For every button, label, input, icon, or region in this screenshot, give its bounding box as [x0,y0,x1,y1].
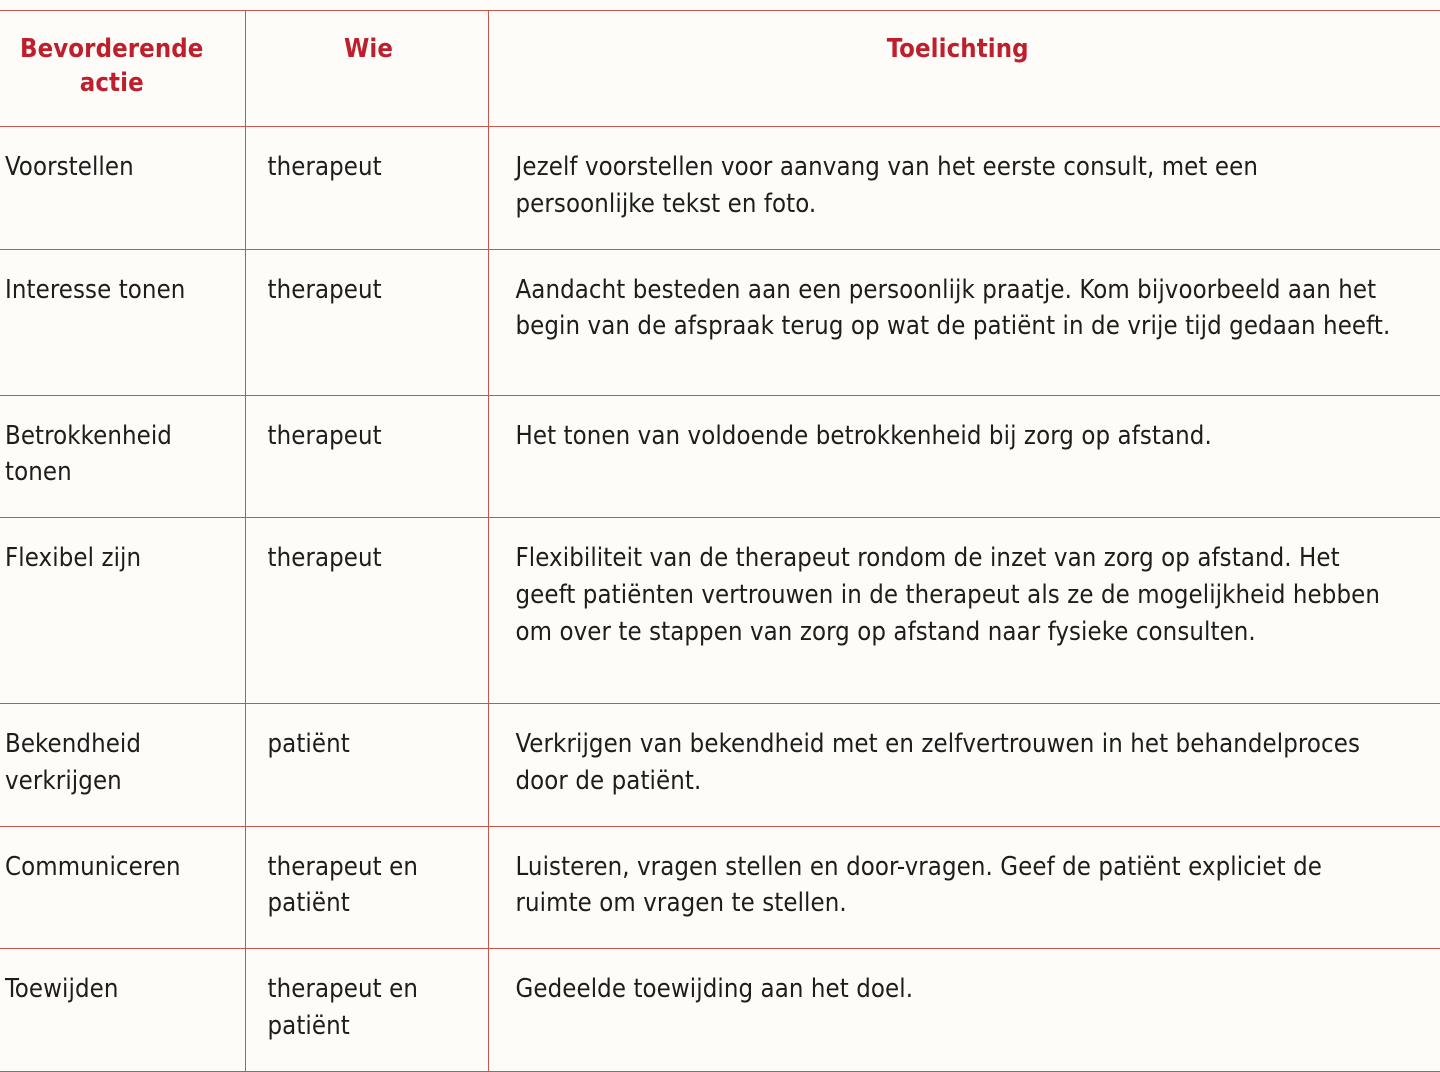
cell-who: patiënt [245,704,488,826]
table-row: Communiceren therapeut en patiënt Luiste… [0,826,1440,948]
cell-action-text: Toewijden [0,949,245,1034]
cell-explanation-text: Gedeelde toewijding aan het doel. [489,949,1440,1034]
table-row: Voorstellen therapeut Jezelf voorstellen… [0,127,1440,249]
column-header-explanation-label: Toelichting [489,11,1440,93]
cell-explanation: Flexibiliteit van de therapeut rondom de… [488,518,1440,704]
cell-who-text: patiënt [246,704,488,789]
cell-action-text: Flexibel zijn [0,518,245,603]
cell-action: Flexibel zijn [0,518,245,704]
cell-explanation-text: Jezelf voorstellen voor aanvang van het … [489,127,1440,248]
column-header-who-label: Wie [246,11,488,93]
cell-explanation: Verkrijgen van bekendheid met en zelfver… [488,704,1440,826]
table-body: Voorstellen therapeut Jezelf voorstellen… [0,127,1440,1071]
cell-explanation-text: Luisteren, vragen stellen en door-vragen… [489,827,1440,948]
cell-who-text: therapeut [246,250,488,335]
cell-action-text: Bekendheid verkrijgen [0,704,245,825]
cell-who: therapeut [245,249,488,395]
column-header-who: Wie [245,11,488,127]
column-header-action: Bevorderende actie [0,11,245,127]
column-header-explanation: Toelichting [488,11,1440,127]
cell-who: therapeut [245,518,488,704]
table-header: Bevorderende actie Wie Toelichting [0,11,1440,127]
cell-explanation: Gedeelde toewijding aan het doel. [488,949,1440,1071]
cell-explanation-text: Flexibiliteit van de therapeut rondom de… [489,518,1440,676]
cell-action: Betrokkenheid tonen [0,395,245,517]
cell-action: Toewijden [0,949,245,1071]
cell-action-text: Betrokkenheid tonen [0,396,245,517]
table-row: Toewijden therapeut en patiënt Gedeelde … [0,949,1440,1071]
cell-who: therapeut en patiënt [245,826,488,948]
cell-who-text: therapeut [246,518,488,603]
cell-explanation-text: Het tonen van voldoende betrokkenheid bi… [489,396,1440,481]
cell-who: therapeut [245,127,488,249]
table-row: Interesse tonen therapeut Aandacht beste… [0,249,1440,395]
cell-who-text: therapeut [246,127,488,212]
table-row: Flexibel zijn therapeut Flexibiliteit va… [0,518,1440,704]
cell-who: therapeut en patiënt [245,949,488,1071]
facilitating-actions-table-container: Bevorderende actie Wie Toelichting Voors… [0,10,1440,1072]
cell-who-text: therapeut en patiënt [246,827,488,948]
cell-explanation: Aandacht besteden aan een persoonlijk pr… [488,249,1440,395]
cell-action: Interesse tonen [0,249,245,395]
cell-who-text: therapeut [246,396,488,481]
cell-explanation-text: Aandacht besteden aan een persoonlijk pr… [489,250,1440,371]
facilitating-actions-table: Bevorderende actie Wie Toelichting Voors… [0,10,1440,1072]
cell-action-text: Interesse tonen [0,250,245,335]
cell-who-text: therapeut en patiënt [246,949,488,1070]
cell-explanation: Luisteren, vragen stellen en door-vragen… [488,826,1440,948]
cell-action: Bekendheid verkrijgen [0,704,245,826]
table-header-row: Bevorderende actie Wie Toelichting [0,11,1440,127]
cell-explanation: Jezelf voorstellen voor aanvang van het … [488,127,1440,249]
cell-action-text: Communiceren [0,827,245,912]
table-row: Betrokkenheid tonen therapeut Het tonen … [0,395,1440,517]
cell-action: Communiceren [0,826,245,948]
cell-explanation-text: Verkrijgen van bekendheid met en zelfver… [489,704,1440,825]
cell-action-text: Voorstellen [0,127,245,212]
cell-who: therapeut [245,395,488,517]
cell-explanation: Het tonen van voldoende betrokkenheid bi… [488,395,1440,517]
cell-action: Voorstellen [0,127,245,249]
column-header-action-label: Bevorderende actie [0,11,245,126]
table-row: Bekendheid verkrijgen patiënt Verkrijgen… [0,704,1440,826]
